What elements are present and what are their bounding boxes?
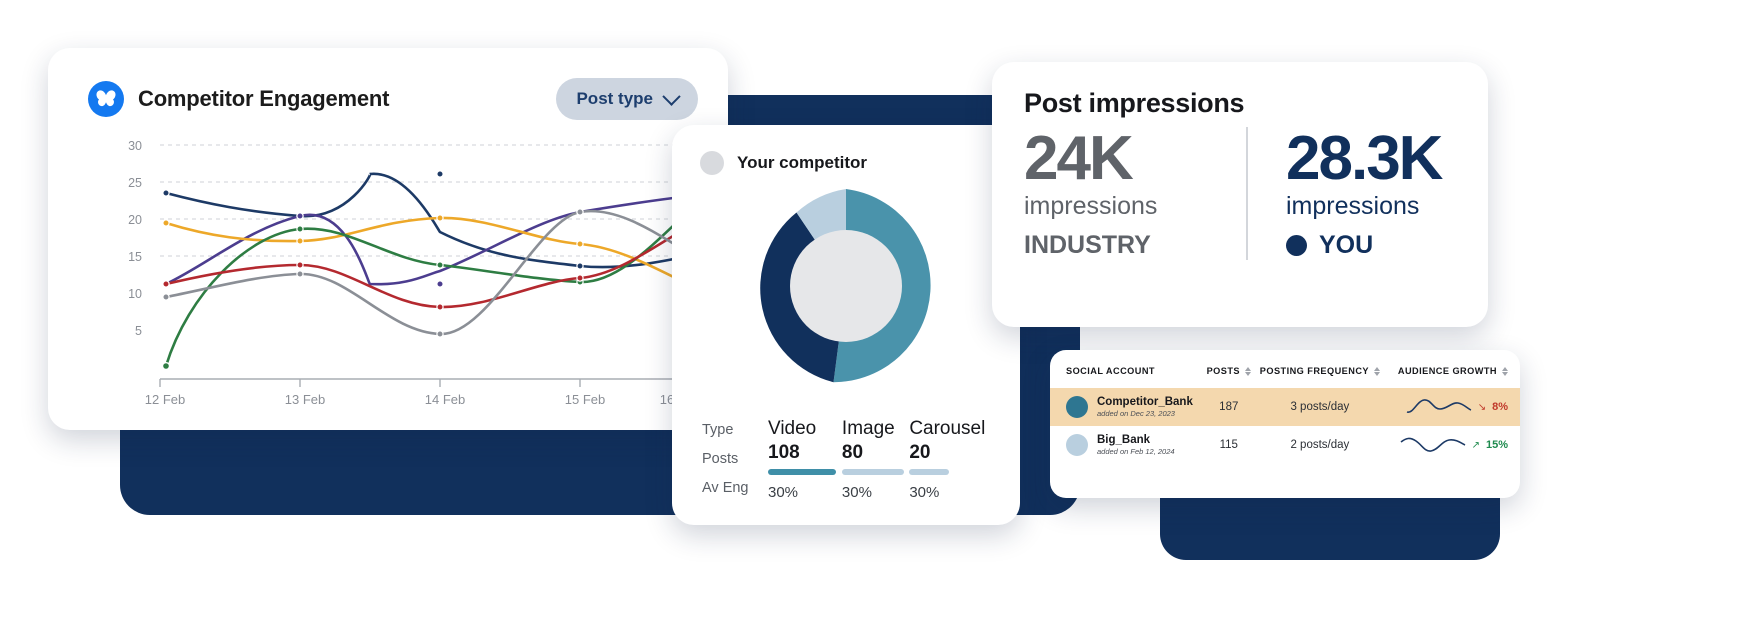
- x-tick-label: 15 Feb: [550, 392, 620, 407]
- posts-carousel-cell: 20: [909, 442, 992, 475]
- row-label-posts: Posts: [702, 442, 768, 475]
- page-title: Competitor Engagement: [138, 86, 389, 112]
- table-row-aveng: Av Eng 30% 30% 30%: [702, 475, 992, 501]
- industry-label: INDUSTRY: [1024, 231, 1246, 260]
- table-row[interactable]: Big_Bank added on Feb 12, 2024 115 2 pos…: [1050, 426, 1520, 464]
- x-tick-label: 14 Feb: [410, 392, 480, 407]
- col-header-posts[interactable]: POSTS: [1198, 350, 1260, 388]
- posting-frequency: 3 posts/day: [1260, 388, 1380, 426]
- accounts-table-head: SOCIAL ACCOUNT POSTS POSTING FREQUENCY: [1050, 350, 1520, 388]
- you-value: 28.3K: [1286, 127, 1468, 191]
- posts-video-cell: 108: [768, 442, 842, 475]
- you-marker-icon: [1286, 235, 1307, 256]
- impressions-title: Post impressions: [992, 62, 1488, 119]
- post-type-donut-chart: [672, 181, 1020, 396]
- you-unit: impressions: [1286, 191, 1468, 221]
- posts-image-cell: 80: [842, 442, 909, 475]
- account-name: Competitor_Bank: [1097, 396, 1193, 409]
- impressions-comparison: 24K impressions INDUSTRY 28.3K impressio…: [992, 119, 1488, 260]
- posting-frequency: 2 posts/day: [1260, 426, 1380, 464]
- col-header-audience-growth[interactable]: AUDIENCE GROWTH: [1380, 350, 1520, 388]
- account-text: Competitor_Bank added on Dec 23, 2023: [1097, 396, 1193, 418]
- account-cell: Big_Bank added on Feb 12, 2024: [1050, 426, 1198, 464]
- type-image: Image: [842, 418, 909, 442]
- row-label-aveng: Av Eng: [702, 475, 768, 501]
- sort-icon[interactable]: [1245, 367, 1251, 376]
- your-competitor-card: Your competitor Type Video Image Carouse…: [672, 125, 1020, 525]
- competitor-avatar-icon: [700, 151, 724, 175]
- engagement-card-header: Competitor Engagement Post type: [48, 48, 728, 120]
- you-label-row: YOU: [1286, 231, 1468, 260]
- table-row-type: Type Video Image Carousel: [702, 418, 992, 442]
- audience-growth-cell: ↗ 15%: [1380, 426, 1520, 464]
- posts-video-value: 108: [768, 442, 842, 464]
- competitor-engagement-card: Competitor Engagement Post type 30 25 20…: [48, 48, 728, 430]
- type-video: Video: [768, 418, 842, 442]
- col-header-posting-frequency[interactable]: POSTING FREQUENCY: [1260, 350, 1380, 388]
- avatar: [1066, 434, 1088, 456]
- donut-hole: [790, 230, 902, 342]
- aveng-video: 30%: [768, 475, 842, 501]
- x-tick-label: 13 Feb: [270, 392, 340, 407]
- x-tick-label: 12 Feb: [130, 392, 200, 407]
- aveng-image: 30%: [842, 475, 909, 501]
- sparkline-icon: [1400, 434, 1466, 456]
- account-text: Big_Bank added on Feb 12, 2024: [1097, 434, 1175, 456]
- aveng-carousel: 30%: [909, 475, 992, 501]
- header-label-posts: POSTS: [1207, 366, 1240, 376]
- growth-value: 8%: [1492, 401, 1508, 413]
- chevron-down-icon: [662, 87, 680, 105]
- impressions-you-column: 28.3K impressions YOU: [1246, 127, 1468, 260]
- engagement-title-group: Competitor Engagement: [88, 81, 389, 117]
- audience-growth-cell: ↘ 8%: [1380, 388, 1520, 426]
- account-added-date: added on Feb 12, 2024: [1097, 447, 1175, 456]
- type-carousel: Carousel: [909, 418, 992, 442]
- header-label-social-account: SOCIAL ACCOUNT: [1066, 366, 1155, 376]
- avatar: [1066, 396, 1088, 418]
- header-label-audience-growth: AUDIENCE GROWTH: [1398, 366, 1497, 376]
- engagement-line-chart: 30 25 20 15 10 5: [48, 134, 728, 424]
- accounts-table-body: Competitor_Bank added on Dec 23, 2023 18…: [1050, 388, 1520, 464]
- industry-unit: impressions: [1024, 191, 1246, 221]
- sparkline-icon: [1406, 396, 1472, 418]
- competitor-title: Your competitor: [737, 153, 867, 173]
- post-impressions-card: Post impressions 24K impressions INDUSTR…: [992, 62, 1488, 327]
- industry-value: 24K: [1024, 127, 1246, 191]
- competitor-card-header: Your competitor: [672, 125, 1020, 175]
- social-accounts-table: SOCIAL ACCOUNT POSTS POSTING FREQUENCY: [1050, 350, 1520, 464]
- header-label-posting-frequency: POSTING FREQUENCY: [1260, 366, 1369, 376]
- growth-value: 15%: [1486, 439, 1508, 451]
- arrow-down-right-icon: ↘: [1478, 402, 1486, 413]
- accounts-header-row: SOCIAL ACCOUNT POSTS POSTING FREQUENCY: [1050, 350, 1520, 388]
- donut-svg: [741, 181, 951, 391]
- table-row-posts: Posts 108 80 20: [702, 442, 992, 475]
- posts-count: 115: [1198, 426, 1260, 464]
- col-header-social-account: SOCIAL ACCOUNT: [1050, 350, 1198, 388]
- post-type-breakdown-table: Type Video Image Carousel Posts 108 80 2…: [702, 418, 992, 501]
- table-row[interactable]: Competitor_Bank added on Dec 23, 2023 18…: [1050, 388, 1520, 426]
- impressions-industry-column: 24K impressions INDUSTRY: [1024, 127, 1246, 260]
- sort-icon[interactable]: [1374, 367, 1380, 376]
- chart-plot-svg: [48, 134, 728, 424]
- social-accounts-card: SOCIAL ACCOUNT POSTS POSTING FREQUENCY: [1050, 350, 1520, 498]
- row-label-type: Type: [702, 418, 768, 442]
- you-label: YOU: [1319, 231, 1373, 260]
- posts-carousel-value: 20: [909, 442, 992, 464]
- posts-image-value: 80: [842, 442, 909, 464]
- account-name: Big_Bank: [1097, 434, 1175, 447]
- post-type-label: Post type: [576, 89, 653, 109]
- post-type-dropdown[interactable]: Post type: [556, 78, 698, 120]
- account-added-date: added on Dec 23, 2023: [1097, 409, 1193, 418]
- posts-count: 187: [1198, 388, 1260, 426]
- account-cell: Competitor_Bank added on Dec 23, 2023: [1050, 388, 1198, 426]
- arrow-up-right-icon: ↗: [1472, 440, 1480, 451]
- butterfly-logo-icon: [88, 81, 124, 117]
- sort-icon[interactable]: [1502, 367, 1508, 376]
- screenshot-stage: Competitor Engagement Post type 30 25 20…: [0, 0, 1740, 643]
